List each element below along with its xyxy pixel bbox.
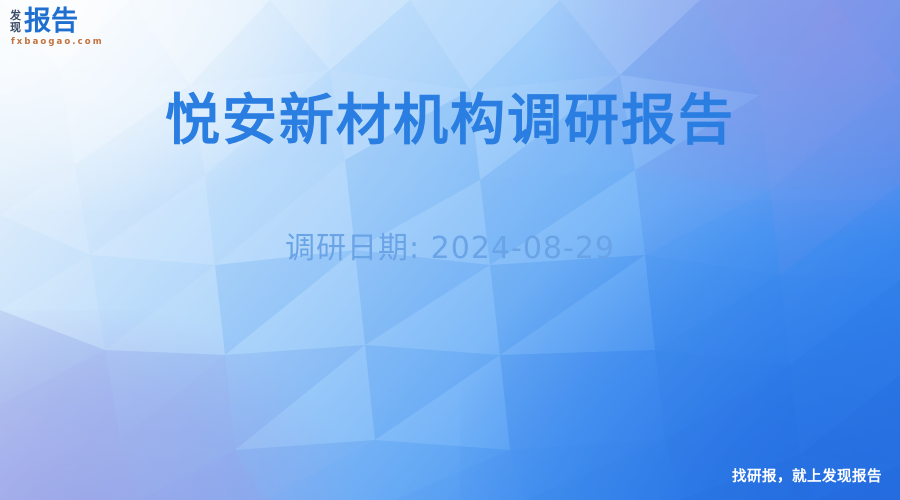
brand-logo[interactable]: 发 现 报告 fxbaogao.com bbox=[10, 8, 104, 47]
logo-mark-char-bottom: 现 bbox=[10, 22, 21, 33]
logo-url: fxbaogao.com bbox=[11, 37, 104, 47]
logo-row: 发 现 报告 bbox=[10, 8, 78, 35]
report-cover-slide: 发 现 报告 fxbaogao.com 悦安新材机构调研报告 调研日期: 202… bbox=[0, 0, 900, 500]
page-title: 悦安新材机构调研报告 bbox=[0, 88, 900, 153]
logo-mark-icon: 发 现 bbox=[10, 10, 21, 32]
footer-slogan: 找研报，就上发现报告 bbox=[732, 465, 882, 486]
logo-wordmark: 报告 bbox=[24, 8, 78, 35]
headline-block: 悦安新材机构调研报告 调研日期: 2024-08-29 bbox=[0, 88, 900, 267]
logo-mark-char-top: 发 bbox=[10, 10, 21, 21]
survey-date-subtitle: 调研日期: 2024-08-29 bbox=[0, 153, 900, 267]
